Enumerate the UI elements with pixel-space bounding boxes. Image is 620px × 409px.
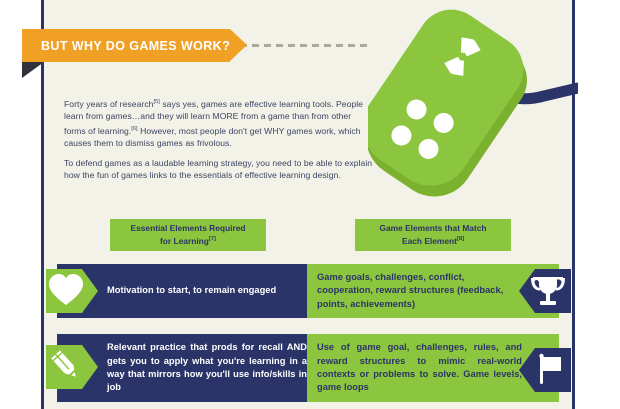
pencil-icon xyxy=(46,345,98,389)
intro-paragraph-1: Forty years of research[5] says yes, gam… xyxy=(64,96,374,149)
row-2-left-text: Relevant practice that prods for recall … xyxy=(107,341,307,395)
row-1-left-text: Motivation to start, to remain engaged xyxy=(107,284,307,297)
column-header-essential-elements: Essential Elements Required for Learning… xyxy=(110,219,266,251)
game-controller-illustration xyxy=(368,8,578,203)
flag-icon xyxy=(519,348,571,392)
column-header-left-line2: for Learning xyxy=(160,236,209,246)
column-header-left-line2-wrap: for Learning[7] xyxy=(160,234,216,247)
row-1-right-text: Game goals, challenges, conflict, cooper… xyxy=(317,271,522,311)
column-header-right-line2-wrap: Each Element[8] xyxy=(402,234,464,247)
banner-fold-shadow xyxy=(22,62,44,78)
intro-paragraph-2: To defend games as a laudable learning s… xyxy=(64,157,374,182)
section-banner-title: BUT WHY DO GAMES WORK? xyxy=(41,39,230,53)
section-banner-body: BUT WHY DO GAMES WORK? xyxy=(22,29,230,62)
column-header-right-line1: Game Elements that Match xyxy=(379,223,486,235)
infographic-page: BUT WHY DO GAMES WORK? Forty years of re… xyxy=(0,0,620,409)
row-2-right-text: Use of game goal, challenges, rules, and… xyxy=(317,341,522,395)
column-header-game-elements: Game Elements that Match Each Element[8] xyxy=(355,219,511,251)
reference-marker-8: [8] xyxy=(457,236,464,242)
column-header-left-line1: Essential Elements Required xyxy=(131,223,246,235)
trophy-icon xyxy=(519,269,571,313)
heart-icon xyxy=(46,269,98,313)
dashed-connector-line xyxy=(228,44,368,47)
paragraph1-part1: Forty years of research xyxy=(64,99,154,109)
section-banner: BUT WHY DO GAMES WORK? xyxy=(22,29,230,62)
column-header-right-line2: Each Element xyxy=(402,236,457,246)
controller-body-group xyxy=(368,8,544,203)
reference-marker-7: [7] xyxy=(209,236,216,242)
